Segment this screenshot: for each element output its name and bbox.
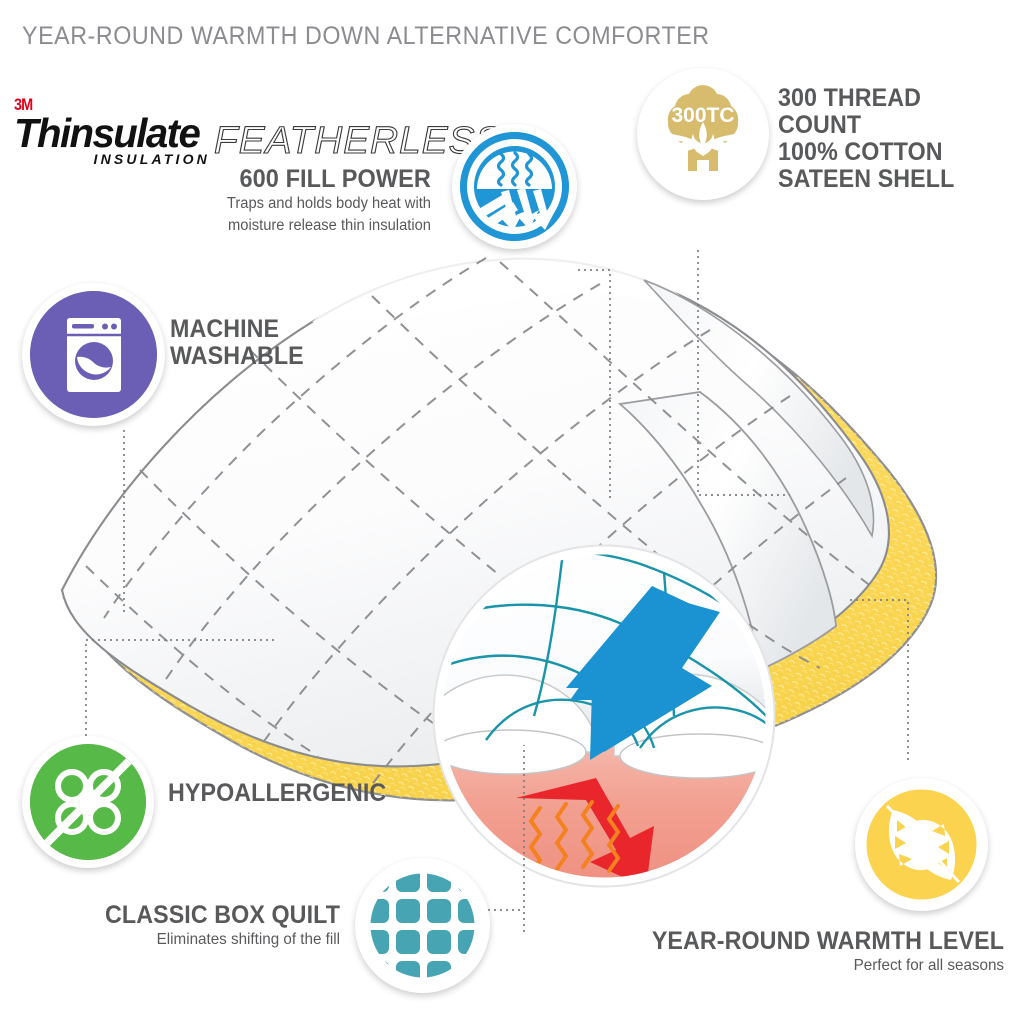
label-box-quilt: CLASSIC BOX QUILT Eliminates shifting of… [20,902,340,949]
thread-count-line-1: 300 THREAD COUNT [778,85,1007,139]
fill-power-heading: 600 FILL POWER [187,166,431,192]
thread-count-line-2: 100% COTTON [778,139,1007,166]
badge-box-quilt[interactable] [355,858,490,993]
label-hypoallergenic: HYPOALLERGENIC [168,780,403,807]
hypoallergenic-text: HYPOALLERGENIC [168,780,386,807]
washing-machine-icon [30,291,157,418]
infographic-canvas: YEAR-ROUND WARMTH DOWN ALTERNATIVE COMFO… [0,0,1024,1024]
label-warmth-level: YEAR-ROUND WARMTH LEVEL Perfect for all … [620,928,1004,975]
fill-power-line-2: moisture release thin insulation [184,216,431,236]
label-machine-washable: MACHINE WASHABLE [170,316,314,370]
warmth-level-heading: YEAR-ROUND WARMTH LEVEL [647,928,1004,955]
fill-power-block: 600 FILL POWER Traps and holds body heat… [171,166,431,236]
badge-hypoallergenic[interactable] [22,736,154,868]
no-allergen-flower-icon [30,744,146,860]
machine-washable-line-2: WASHABLE [170,343,304,370]
cotton-boll-icon: 300TC [645,76,761,192]
label-thread-count: 300 THREAD COUNT 100% COTTON SATEEN SHEL… [778,85,1024,193]
moisture-release-icon [460,132,569,241]
badge-moisture-release[interactable] [452,124,577,249]
logo-thinsulate-text: Thinsulate [14,114,210,153]
badge-warmth-level[interactable] [855,778,988,911]
badge-machine-washable[interactable] [22,283,165,426]
thread-count-line-3: SATEEN SHELL [778,166,1007,193]
badge-thread-count[interactable]: 300TC [637,68,769,200]
feather-ring-icon [863,786,980,903]
cotton-icon-label: 300TC [671,104,734,127]
fill-power-line-1: Traps and holds body heat with [184,194,431,214]
box-quilt-heading: CLASSIC BOX QUILT [42,902,340,929]
machine-washable-line-1: MACHINE [170,316,304,343]
warmth-level-sub: Perfect for all seasons [639,956,1004,975]
box-quilt-sub: Eliminates shifting of the fill [36,930,340,949]
thinsulate-logo: 3M Thinsulate INSULATION [14,96,214,167]
box-quilt-grid-icon [363,866,482,985]
featherless-wordmark: FEATHERLESS [214,122,502,160]
